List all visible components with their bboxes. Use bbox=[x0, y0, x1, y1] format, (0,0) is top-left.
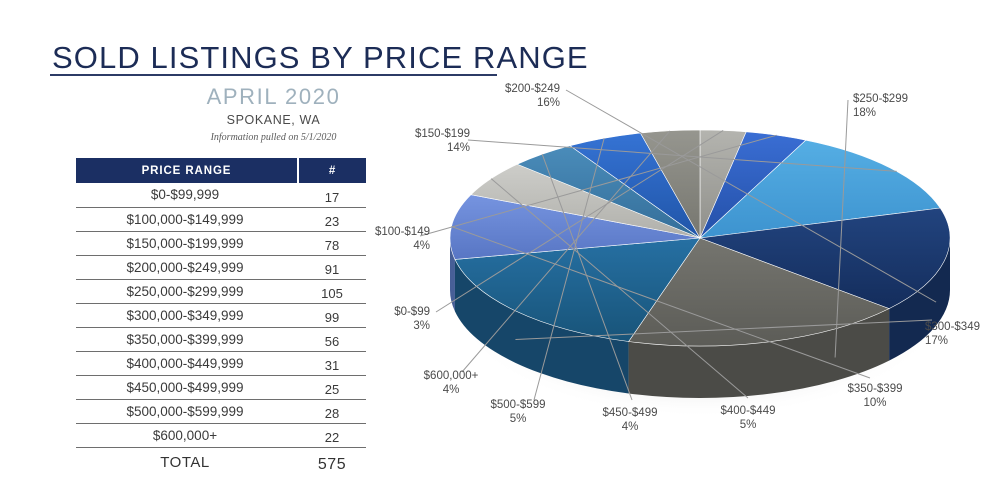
cell-count: 91 bbox=[298, 255, 366, 279]
pie-label-500-599: $500-$599 5% bbox=[470, 398, 566, 426]
table-row: $250,000-$299,999105 bbox=[76, 279, 366, 303]
price-range-table: PRICE RANGE # $0-$99,99917$100,000-$149,… bbox=[76, 158, 366, 477]
pie-label-300-349: $300-$349 17% bbox=[925, 320, 1000, 348]
cell-price-range: $150,000-$199,999 bbox=[76, 231, 298, 255]
cell-count: 17 bbox=[298, 183, 366, 207]
cell-count: 31 bbox=[298, 351, 366, 375]
pie-label-100-149: $100-$149 4% bbox=[310, 225, 430, 253]
pie-label-350-399: $350-$399 10% bbox=[827, 382, 923, 410]
table-row: $200,000-$249,99991 bbox=[76, 255, 366, 279]
pie-label-600000-plus: $600,000+ 4% bbox=[403, 369, 499, 397]
pie-top-faces bbox=[450, 130, 950, 346]
cell-count: 25 bbox=[298, 375, 366, 399]
pie-label-450-499: $450-$499 4% bbox=[582, 406, 678, 434]
pie-label-400-449: $400-$449 5% bbox=[700, 404, 796, 432]
report-page: SOLD LISTINGS BY PRICE RANGE APRIL 2020 … bbox=[0, 0, 1000, 480]
cell-price-range: $350,000-$399,999 bbox=[76, 327, 298, 351]
table-header-row: PRICE RANGE # bbox=[76, 158, 366, 183]
cell-price-range: $400,000-$449,999 bbox=[76, 351, 298, 375]
cell-count: 28 bbox=[298, 399, 366, 423]
table-row: $450,000-$499,99925 bbox=[76, 375, 366, 399]
cell-count: 105 bbox=[298, 279, 366, 303]
pie-chart-area: $200-$249 16% $250-$299 18% $150-$199 14… bbox=[370, 0, 1000, 480]
table-row: $0-$99,99917 bbox=[76, 183, 366, 207]
pie-label-0-99: $0-$99 3% bbox=[328, 305, 430, 333]
cell-price-range: $600,000+ bbox=[76, 423, 298, 447]
cell-price-range: $500,000-$599,999 bbox=[76, 399, 298, 423]
cell-price-range: $200,000-$249,999 bbox=[76, 255, 298, 279]
pie-label-200-249: $200-$249 16% bbox=[440, 82, 560, 110]
cell-price-range: $300,000-$349,999 bbox=[76, 303, 298, 327]
cell-price-range: $250,000-$299,999 bbox=[76, 279, 298, 303]
pie-label-150-199: $150-$199 14% bbox=[350, 127, 470, 155]
column-header-count: # bbox=[298, 158, 366, 183]
cell-price-range: $450,000-$499,999 bbox=[76, 375, 298, 399]
column-header-price-range: PRICE RANGE bbox=[76, 158, 298, 183]
cell-total-label: TOTAL bbox=[76, 447, 298, 477]
pie-label-250-299: $250-$299 18% bbox=[853, 92, 973, 120]
cell-total-count: 575 bbox=[298, 447, 366, 477]
table-row: $300,000-$349,99999 bbox=[76, 303, 366, 327]
table-row: $500,000-$599,99928 bbox=[76, 399, 366, 423]
table-total-row: TOTAL575 bbox=[76, 447, 366, 477]
cell-price-range: $0-$99,999 bbox=[76, 183, 298, 207]
table-row: $400,000-$449,99931 bbox=[76, 351, 366, 375]
table-row: $600,000+22 bbox=[76, 423, 366, 447]
cell-price-range: $100,000-$149,999 bbox=[76, 207, 298, 231]
cell-count: 22 bbox=[298, 423, 366, 447]
table-row: $350,000-$399,99956 bbox=[76, 327, 366, 351]
